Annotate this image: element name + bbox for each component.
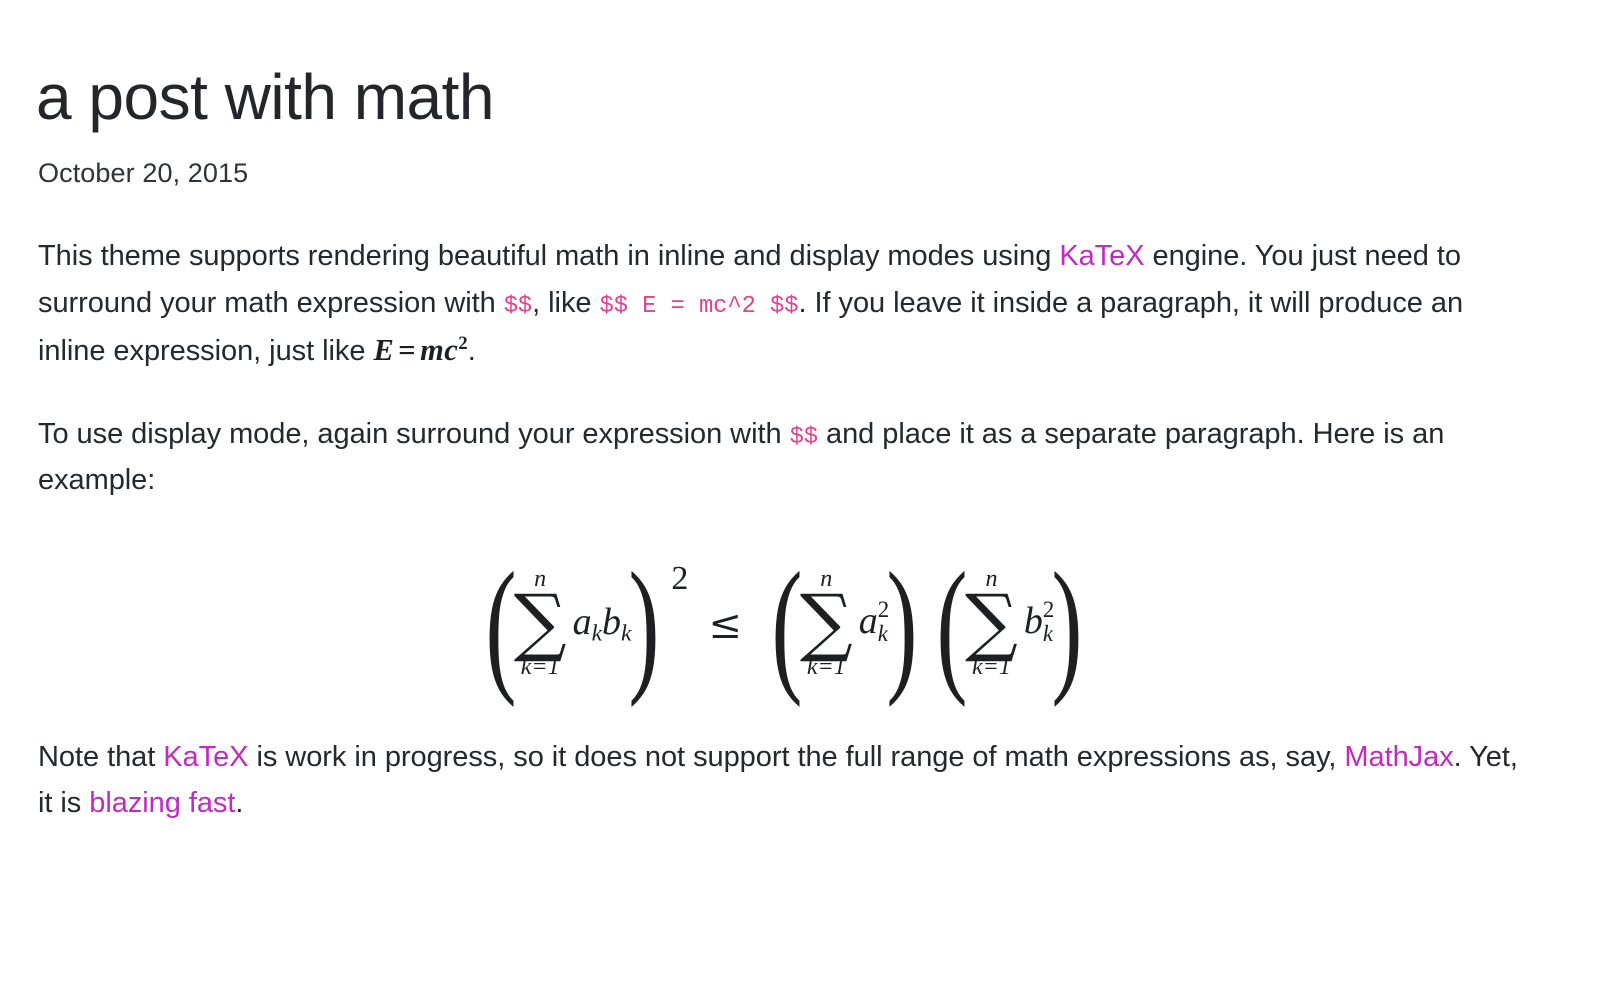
code-math-example: $$ E = mc^2 $$: [599, 293, 798, 320]
term-a-squared: a: [859, 600, 878, 642]
sum-lower-limit-2: k=1: [807, 655, 846, 679]
post-date: October 20, 2015: [38, 158, 1562, 189]
code-dollars-1: $$: [504, 293, 532, 320]
paragraph1-text-5: .: [468, 335, 476, 367]
inline-math-lhs: E: [373, 333, 394, 367]
sigma-icon: ∑: [800, 587, 853, 657]
term-b: b: [602, 601, 621, 643]
summation-1: n ∑ k=1: [514, 567, 567, 679]
summation-3: n ∑ k=1: [965, 567, 1018, 679]
sum-body-2: a2k: [859, 601, 889, 648]
paragraph1-text-1: This theme supports rendering beautiful …: [38, 240, 1059, 272]
inline-math-operator: =: [394, 333, 420, 367]
paragraph1-text-3: , like: [532, 287, 599, 319]
relation-leq: ≤: [688, 605, 762, 645]
term-b-squared: b: [1024, 600, 1043, 642]
page-title: a post with math: [36, 62, 1562, 132]
term-a: a: [573, 601, 592, 643]
sum-body-1: akbk: [573, 603, 632, 646]
paragraph3-text-1: Note that: [38, 741, 163, 773]
post-body: This theme supports rendering beautiful …: [38, 233, 1530, 826]
paragraph3-text-4: .: [235, 787, 243, 819]
sum-body-3: b2k: [1024, 601, 1054, 648]
link-katex-2[interactable]: KaTeX: [163, 741, 248, 773]
paragraph-intro: This theme supports rendering beautiful …: [38, 233, 1530, 375]
link-katex-1[interactable]: KaTeX: [1059, 240, 1144, 272]
inline-math-exponent: 2: [458, 333, 467, 354]
sigma-icon: ∑: [514, 587, 567, 657]
paragraph-note: Note that KaTeX is work in progress, so …: [38, 734, 1530, 827]
paragraph-display-mode: To use display mode, again surround your…: [38, 411, 1530, 504]
link-blazing-fast[interactable]: blazing fast: [89, 787, 235, 819]
sum-group-1: n ∑ k=1 akbk: [512, 567, 634, 679]
inline-math-emc2: E=mc2: [373, 326, 467, 375]
display-math-row: ( n ∑ k=1 akbk ) 2 ≤ ( n ∑: [476, 548, 1092, 698]
post-page: a post with math October 20, 2015 This t…: [0, 0, 1600, 826]
term-a-sub: k: [592, 621, 602, 647]
sum-group-3: n ∑ k=1 b2k: [963, 567, 1056, 679]
link-mathjax[interactable]: MathJax: [1344, 741, 1453, 773]
outer-exponent: 2: [671, 562, 688, 596]
sum-lower-limit-1: k=1: [521, 655, 560, 679]
inline-math-rhs: mc: [420, 333, 458, 367]
code-dollars-2: $$: [790, 424, 818, 451]
display-math-cauchy-schwarz: ( n ∑ k=1 akbk ) 2 ≤ ( n ∑: [38, 548, 1530, 698]
sigma-icon: ∑: [965, 587, 1018, 657]
sum-group-2: n ∑ k=1 a2k: [798, 567, 891, 679]
paragraph3-text-2: is work in progress, so it does not supp…: [248, 741, 1344, 773]
paragraph2-text-1: To use display mode, again surround your…: [38, 418, 790, 450]
sum-lower-limit-3: k=1: [972, 655, 1011, 679]
summation-2: n ∑ k=1: [800, 567, 853, 679]
